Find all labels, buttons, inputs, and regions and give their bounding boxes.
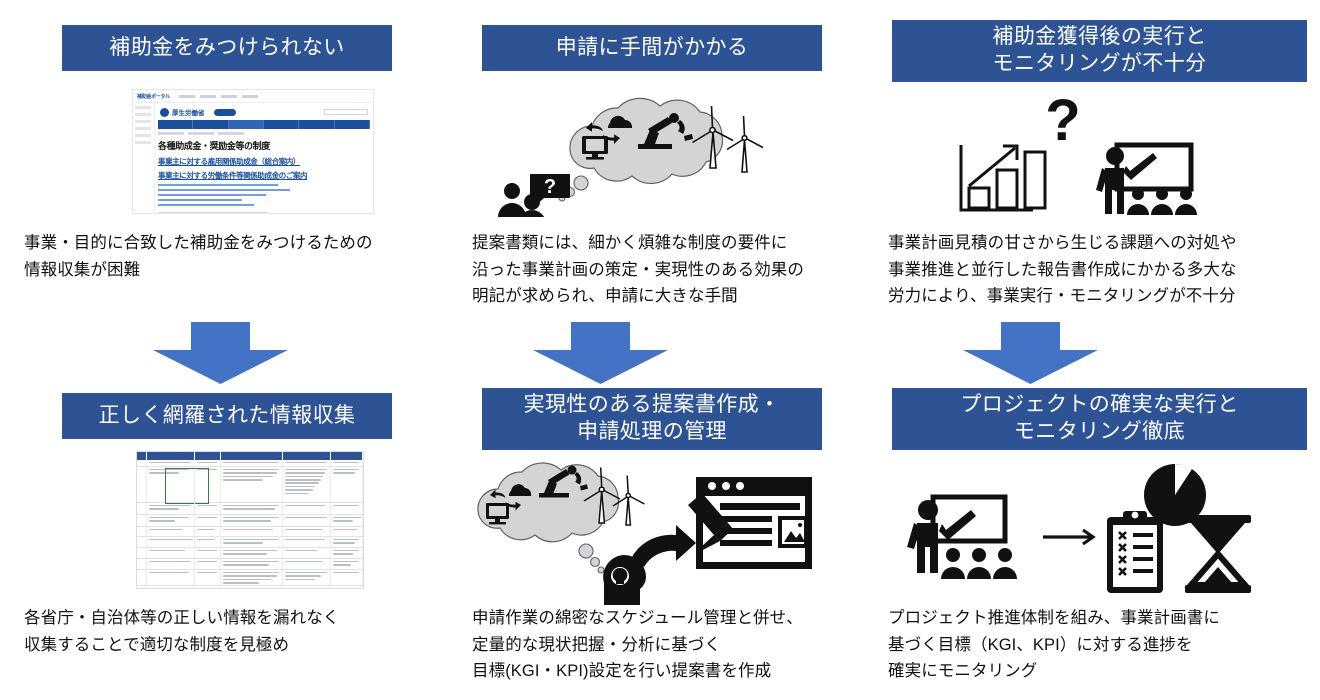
slide-canvas: 補助金をみつけられない 補助金ポータル 厚生労働省 [0, 0, 1320, 700]
problem-body-2: 提案書類には、細かく煩雑な制度の要件に 沿った事業計画の策定・実現性のある効果の… [472, 230, 892, 310]
table-row [137, 515, 363, 527]
table-row [137, 503, 363, 515]
presenter-audience-icon [907, 497, 1017, 579]
solution-body-3: プロジェクト推進体制を組み、事業計画書に 基づく目標（KGI、KPI）に対する進… [888, 605, 1318, 685]
website-screenshot-image: 補助金ポータル 厚生労働省 [133, 90, 373, 213]
thought-cloud-icon [478, 463, 619, 542]
clipboard-checklist-icon [1107, 511, 1163, 593]
link-list [158, 184, 370, 206]
table-row [137, 537, 363, 548]
problem-banner-3: 補助金獲得後の実行と モニタリングが不十分 [892, 20, 1307, 82]
flow-arrow-3 [963, 322, 1098, 389]
curved-arrow-icon [632, 525, 696, 567]
mhlw-name: 厚生労働省 [172, 107, 205, 117]
table-row [137, 527, 363, 537]
table-row [137, 467, 363, 503]
portal-nav [179, 95, 258, 98]
portal-logo: 補助金ポータル [137, 93, 170, 100]
table-row [137, 586, 363, 588]
bar-chart-growth-icon [961, 145, 1045, 210]
solution-banner-2: 実現性のある提案書作成・ 申請処理の管理 [482, 388, 822, 450]
table-row [137, 548, 363, 559]
hourglass-icon [1185, 515, 1251, 593]
flow-arrow-2 [533, 322, 668, 389]
presenter-to-tracking-image [885, 455, 1285, 605]
presenter-audience-icon [1096, 145, 1197, 215]
site-search-input [324, 109, 368, 115]
link-labor-subsidy: 事業主に対する労働条件等関係助成金のご案内 [158, 170, 370, 181]
flow-arrow-1 [153, 322, 288, 389]
problem-banner-2: 申請に手間がかかる [482, 25, 822, 71]
table-row [137, 570, 363, 586]
breadcrumb [158, 132, 370, 137]
document-editor-icon [688, 477, 812, 569]
spreadsheet-screenshot-image [137, 452, 363, 588]
page-title: 各種助成金・奨励金等の制度 [158, 139, 370, 152]
table-header-row [137, 452, 363, 460]
thought-cloud-to-document-image [460, 455, 860, 605]
table-row [137, 559, 363, 570]
solution-banner-3: プロジェクトの確実な実行と モニタリング徹底 [892, 388, 1307, 450]
audience-icon [941, 548, 1017, 579]
portal-body: 厚生労働省 各種助成金・奨励金等の制度 事業主に対する雇用関係助成金（総合案内）… [133, 103, 373, 213]
portal-topbar: 補助金ポータル [133, 90, 373, 103]
column-application-effort: 申請に手間がかかる [440, 0, 880, 700]
thought-cloud-people-image: ? [498, 92, 818, 217]
people-question-icon: ? [498, 174, 570, 217]
mhlw-menubar [158, 120, 370, 129]
problem-body-1: 事業・目的に合致した補助金をみつけるための 情報収集が困難 [24, 230, 444, 283]
column-find-subsidy: 補助金をみつけられない 補助金ポータル 厚生労働省 [0, 0, 440, 700]
solution-body-1: 各省庁・自治体等の正しい情報を漏れなく 収集することで適切な制度を見極め [24, 605, 444, 658]
svg-text:?: ? [544, 176, 556, 198]
portal-sidebar [133, 103, 155, 213]
solution-body-2: 申請作業の綿密なスケジュール管理と併せ、 定量的な現状把握・分析に基づく 目標(… [472, 605, 892, 685]
column-execution-monitoring: 補助金獲得後の実行と モニタリングが不十分 ? [880, 0, 1320, 700]
link-employment-subsidy: 事業主に対する雇用関係助成金（総合案内） [158, 156, 370, 167]
table-row [137, 460, 363, 467]
portal-main: 厚生労働省 各種助成金・奨励金等の制度 事業主に対する雇用関係助成金（総合案内）… [155, 103, 373, 213]
home-button [214, 109, 236, 116]
problem-body-3: 事業計画見積の甘さから生じる課題への対処や 事業推進と並行した報告書作成にかかる… [888, 230, 1318, 310]
right-arrow-icon [1043, 530, 1093, 544]
chart-question-presenter-image: ? [955, 90, 1245, 215]
question-mark-icon: ? [1045, 90, 1080, 153]
highlighted-cell [165, 468, 209, 504]
audience-icon [1127, 188, 1197, 215]
mhlw-logo-icon [160, 108, 169, 117]
mhlw-header: 厚生労働省 [158, 105, 370, 120]
problem-banner-1: 補助金をみつけられない [62, 25, 392, 71]
section-footer [158, 212, 268, 213]
solution-banner-1: 正しく網羅された情報収集 [62, 393, 392, 439]
